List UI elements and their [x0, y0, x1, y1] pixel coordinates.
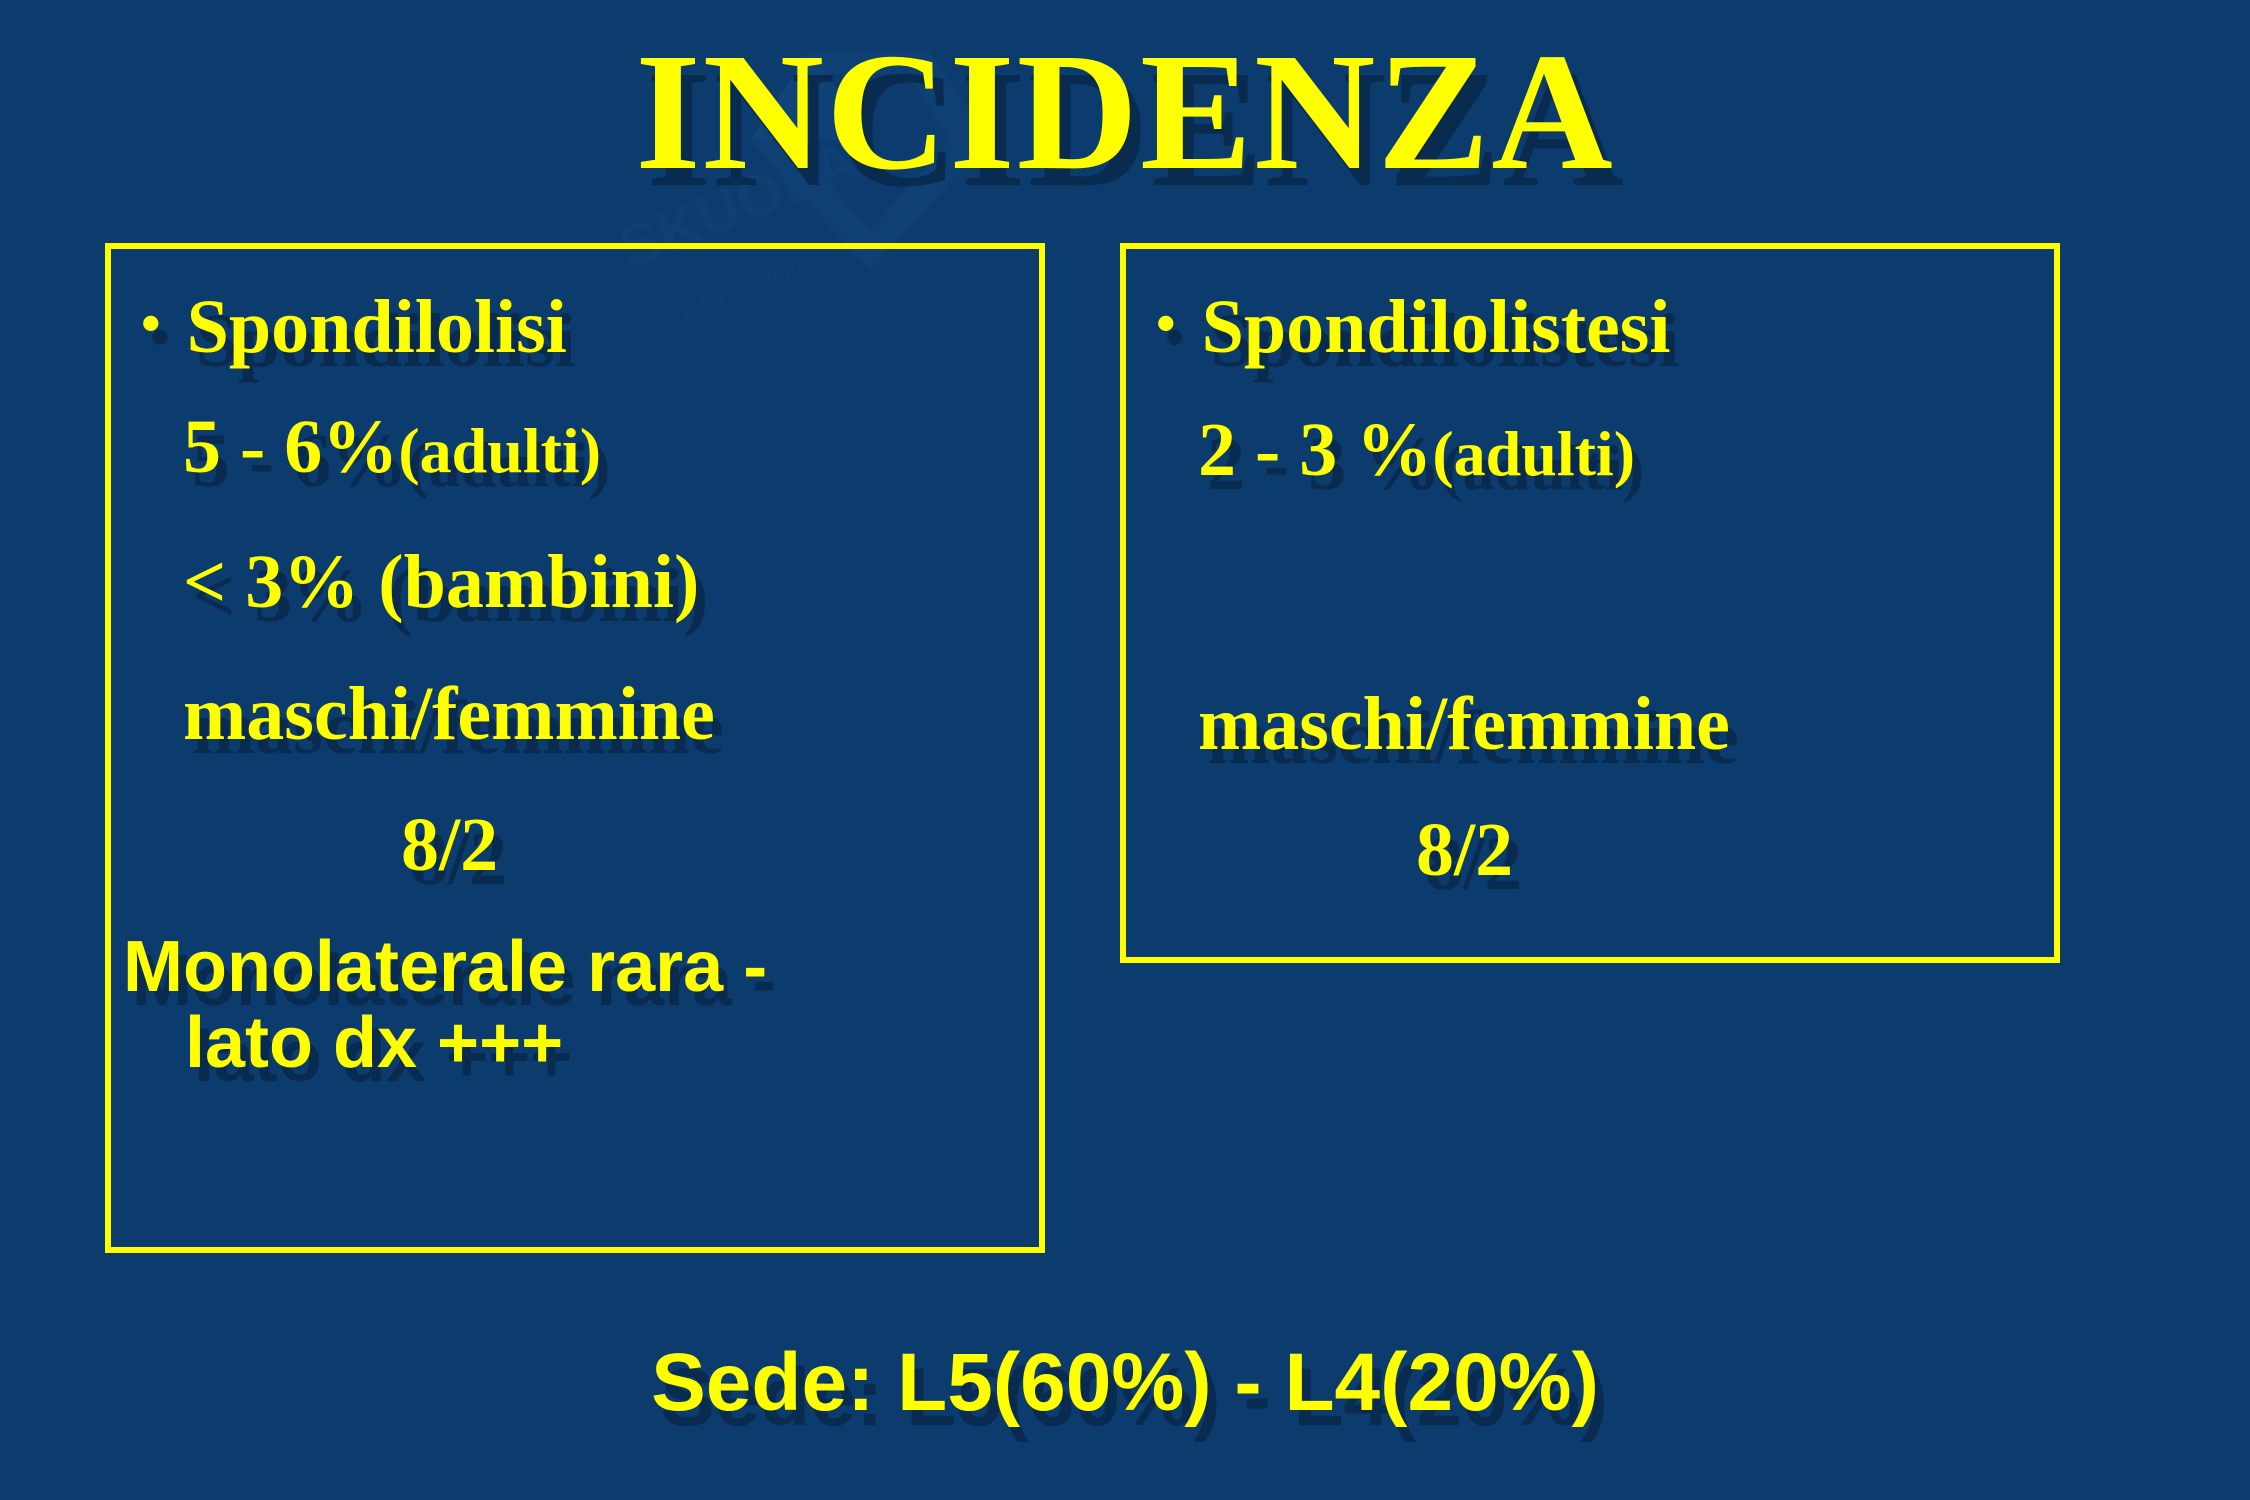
footer-note: Sede: L5(60%) - L4(20%)	[0, 1336, 2250, 1430]
left-box-note-line1: Monolaterale rara -	[123, 927, 767, 1007]
left-content-box: •Spondilolisi 5 - 6%(adulti) < 3% (bambi…	[105, 243, 1045, 1253]
left-box-percent-children: < 3% (bambini)	[183, 539, 699, 626]
left-box-heading-row: •Spondilolisi	[141, 284, 567, 371]
left-box-percent-adults-note: (adulti)	[398, 415, 601, 486]
right-box-heading-row: •Spondilolistesi	[1156, 284, 1670, 371]
right-box-percent-adults-row: 2 - 3 %(adulti)	[1198, 407, 1635, 494]
right-box-percent-adults: 2 - 3 %	[1198, 408, 1432, 492]
right-box-heading: Spondilolistesi	[1202, 285, 1671, 369]
right-content-box: •Spondilolistesi 2 - 3 %(adulti) maschi/…	[1120, 243, 2060, 963]
bullet-icon: •	[1156, 293, 1176, 355]
left-box-heading: Spondilolisi	[187, 285, 567, 369]
page-title: INCIDENZA	[0, 28, 2250, 196]
left-box-note-line2: lato dx +++	[123, 1005, 1063, 1081]
right-box-ratio-value: 8/2	[1416, 807, 1513, 894]
right-box-percent-adults-note: (adulti)	[1432, 418, 1635, 489]
bullet-icon: •	[141, 293, 161, 355]
left-box-note: Monolaterale rara - lato dx +++	[123, 929, 1063, 1082]
left-box-percent-adults-row: 5 - 6%(adulti)	[183, 404, 601, 491]
left-box-percent-adults: 5 - 6%	[183, 405, 398, 489]
left-box-ratio-label: maschi/femmine	[183, 671, 715, 758]
left-box-ratio-value: 8/2	[401, 802, 498, 889]
right-box-ratio-label: maschi/femmine	[1198, 681, 1730, 768]
slide-canvas: SKUOLA il passo della INCIDENZA •Spondil…	[0, 0, 2250, 1500]
